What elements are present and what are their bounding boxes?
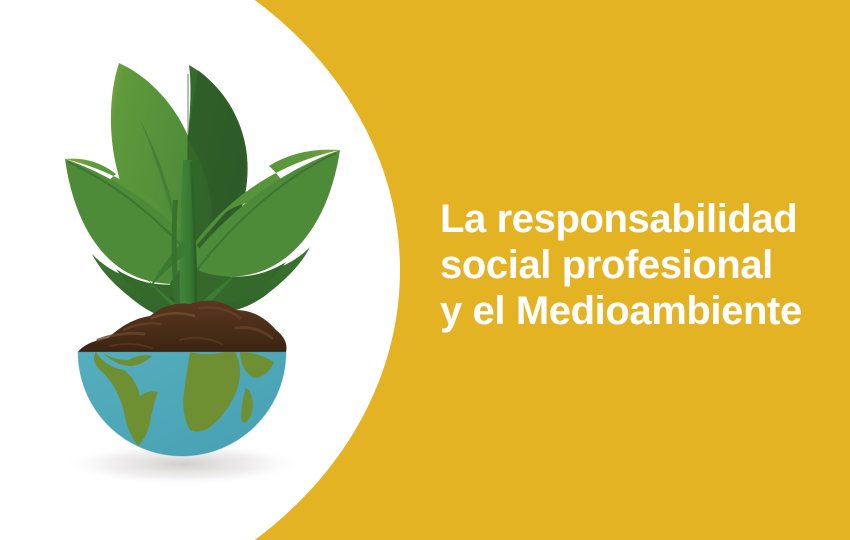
- globe-bowl: [78, 350, 286, 456]
- seedling-globe-illustration: [40, 40, 370, 500]
- page-title: La responsabilidad social profesional y …: [440, 196, 830, 334]
- slide-canvas: La responsabilidad social profesional y …: [0, 0, 850, 540]
- soil-mound: [78, 301, 287, 352]
